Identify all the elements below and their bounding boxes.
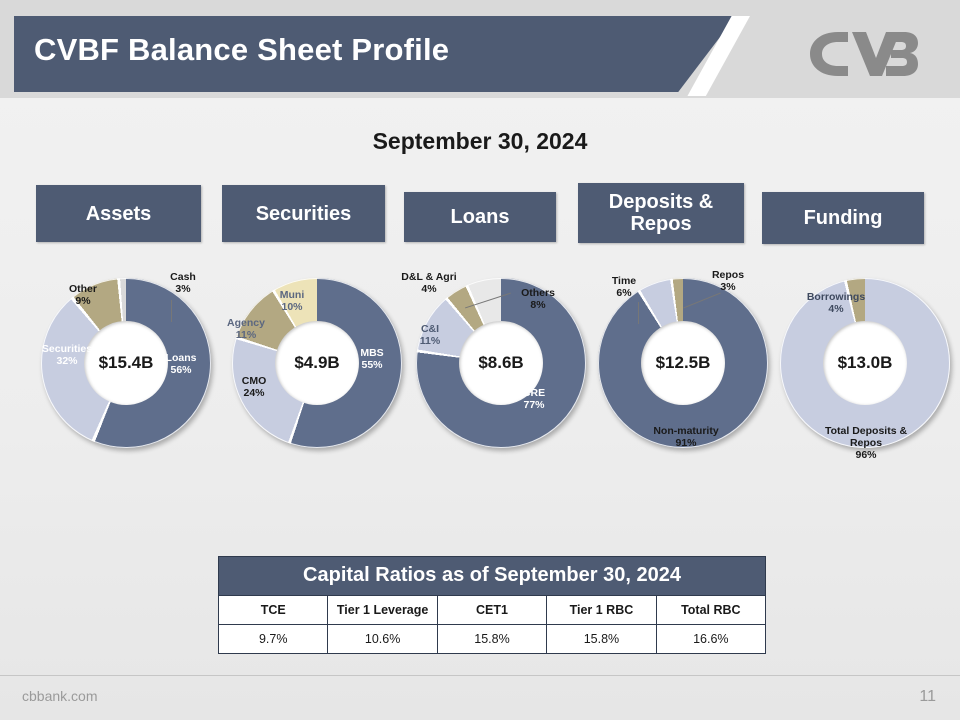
column-header-tier1-leverage: Tier 1 Leverage [328, 595, 437, 624]
donut-chart-loans: $8.6B CRE 77% C&I 11% D&L & Agri 4% Othe… [398, 278, 593, 458]
donut-chart-funding: $13.0B Total Deposits & Repos 96% Borrow… [762, 278, 952, 458]
column-header-cet1: CET1 [438, 595, 547, 624]
donut-center-funding: $13.0B [823, 321, 907, 405]
donut-chart-assets: $15.4B Loans 56% Securities 32% Other 9%… [33, 278, 218, 458]
header-band: CVBF Balance Sheet Profile [0, 0, 960, 98]
donut-center-securities: $4.9B [275, 321, 359, 405]
cvb-logo-icon [808, 28, 918, 80]
capital-ratios-title: Capital Ratios as of September 30, 2024 [219, 557, 765, 595]
label-securities-mbs: MBS 55% [350, 348, 394, 372]
category-header-securities: Securities [222, 185, 385, 242]
label-assets-other: Other 9% [61, 284, 105, 308]
label-assets-cash: Cash 3% [161, 272, 205, 296]
label-loans-dl-agri: D&L & Agri 4% [392, 272, 466, 296]
table-row: 9.7% 10.6% 15.8% 15.8% 16.6% [219, 624, 765, 653]
donut-center-deposits: $12.5B [641, 321, 725, 405]
label-loans-others: Others 8% [516, 288, 560, 312]
label-loans-cre: CRE 77% [514, 388, 554, 412]
page-number: 11 [919, 688, 936, 706]
value-cet1: 15.8% [438, 624, 547, 653]
donut-ring-deposits: $12.5B [598, 278, 768, 448]
column-header-tier1-rbc: Tier 1 RBC [547, 595, 656, 624]
label-assets-loans: Loans 56% [155, 353, 207, 377]
donut-ring-loans: $8.6B [416, 278, 586, 448]
category-header-loans: Loans [404, 192, 556, 242]
label-funding-total-deposits: Total Deposits & Repos 96% [796, 426, 936, 461]
footer-url: cbbank.com [22, 688, 97, 704]
label-deposits-nonmaturity: Non-maturity 91% [626, 426, 746, 450]
leader-line-time [638, 302, 639, 324]
label-securities-cmo: CMO 24% [232, 376, 276, 400]
label-assets-securities: Securities 32% [39, 344, 95, 368]
date-subtitle: September 30, 2024 [0, 128, 960, 155]
label-deposits-time: Time 6% [604, 276, 644, 300]
capital-ratios-table: Capital Ratios as of September 30, 2024 … [218, 556, 766, 654]
page-title: CVBF Balance Sheet Profile [34, 32, 449, 68]
table-header-row: TCE Tier 1 Leverage CET1 Tier 1 RBC Tota… [219, 595, 765, 624]
value-total-rbc: 16.6% [657, 624, 765, 653]
donut-chart-deposits: $12.5B Non-maturity 91% Time 6% Repos 3% [578, 278, 768, 458]
label-securities-muni: Muni 10% [270, 290, 314, 314]
leader-line-cash [171, 300, 172, 322]
value-tier1-rbc: 15.8% [547, 624, 656, 653]
label-deposits-repos: Repos 3% [704, 270, 752, 294]
category-header-funding: Funding [762, 192, 924, 244]
value-tce: 9.7% [219, 624, 328, 653]
label-funding-borrowings: Borrowings 4% [798, 292, 874, 316]
column-header-total-rbc: Total RBC [657, 595, 765, 624]
category-header-deposits-repos: Deposits & Repos [578, 183, 744, 243]
value-tier1-leverage: 10.6% [328, 624, 437, 653]
category-header-assets: Assets [36, 185, 201, 242]
footer-divider [0, 675, 960, 676]
column-header-tce: TCE [219, 595, 328, 624]
slide: CVBF Balance Sheet Profile September 30,… [0, 0, 960, 720]
label-securities-agency: Agency 11% [220, 318, 272, 342]
donut-chart-securities: $4.9B MBS 55% CMO 24% Agency 11% Muni 10… [220, 278, 410, 458]
label-loans-ci: C&I 11% [410, 324, 450, 348]
